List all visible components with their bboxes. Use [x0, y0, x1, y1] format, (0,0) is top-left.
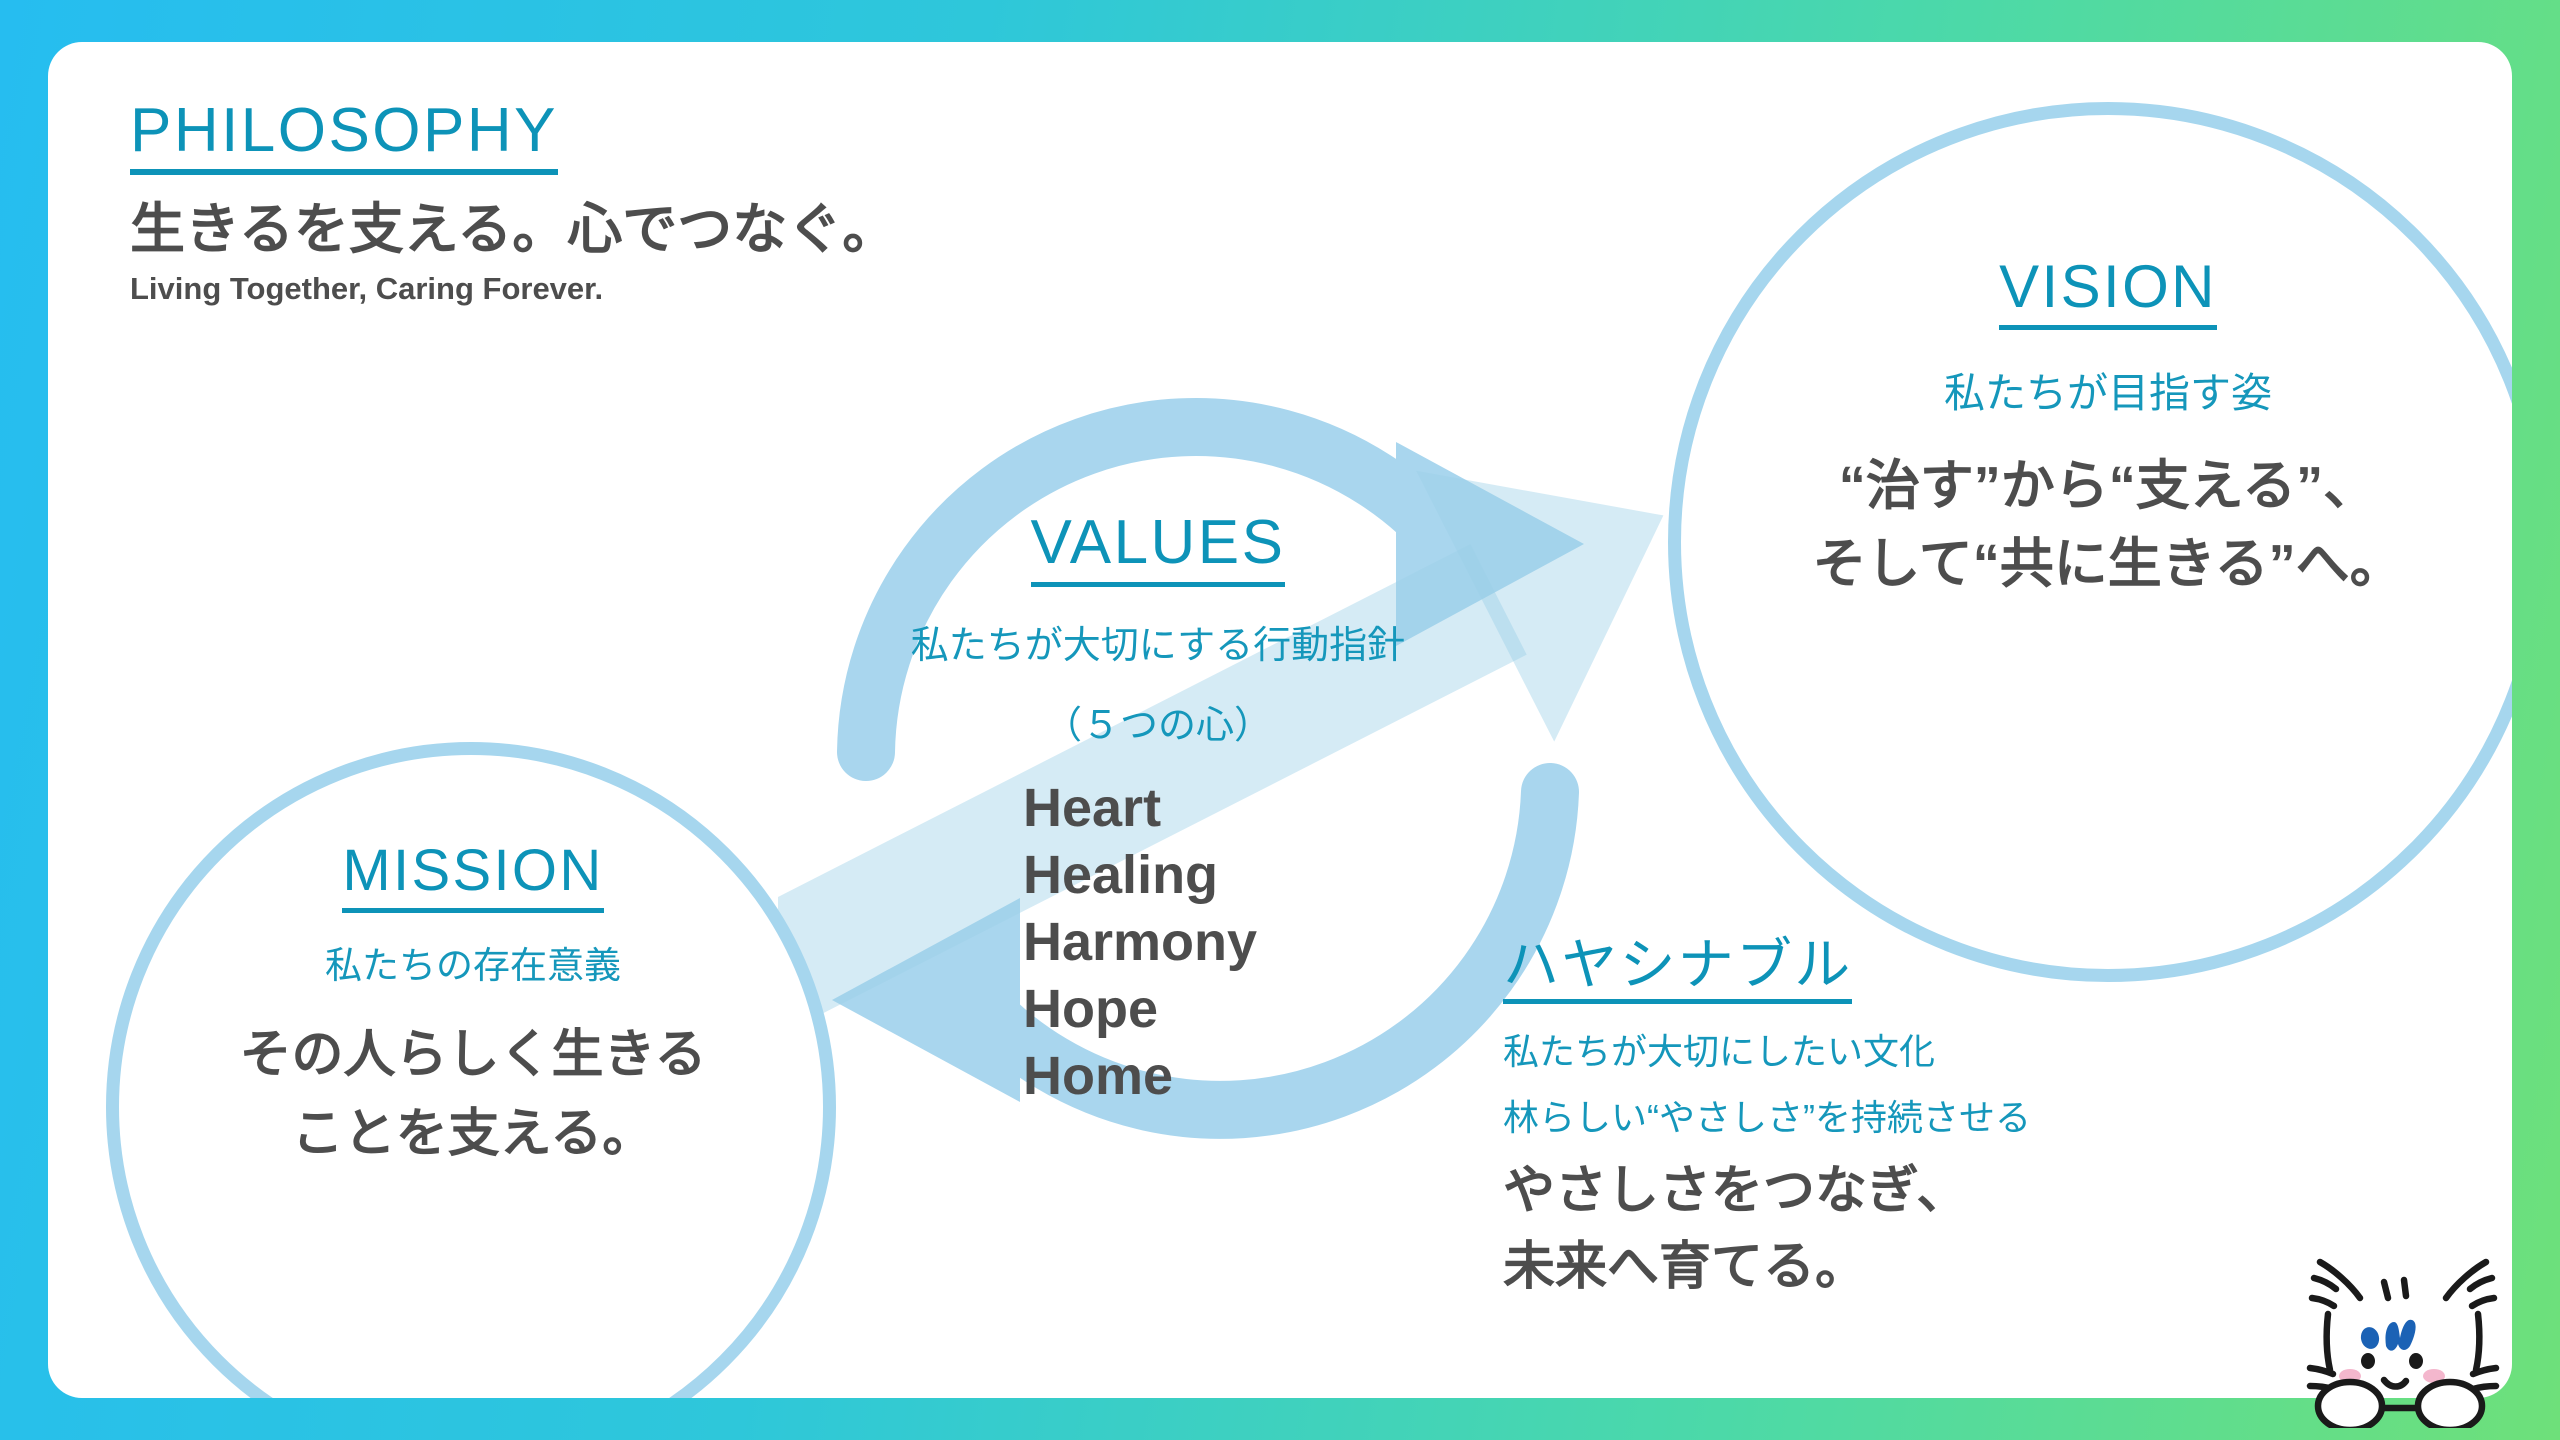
values-title: VALUES — [1031, 512, 1286, 587]
vision-line-1: “治す”から“支える”、 — [1708, 451, 2508, 522]
slide-canvas: PHILOSOPHY 生きるを支える。心でつなぐ。 Living Togethe… — [0, 0, 2560, 1440]
values-subtitle: 私たちが大切にする行動指針 — [808, 621, 1508, 672]
values-subtitle-2: （５つの心） — [808, 694, 1508, 749]
mission-line-1: その人らしく生きる — [123, 1021, 823, 1090]
vision-title: VISION — [1999, 257, 2217, 330]
philosophy-block: PHILOSOPHY 生きるを支える。心でつなぐ。 Living Togethe… — [130, 100, 897, 307]
hayashinable-subtitle-2: 林らしい“やさしさ”を持続させる — [1503, 1089, 2031, 1141]
values-block: VALUES 私たちが大切にする行動指針 （５つの心） Heart Healin… — [808, 512, 1508, 1110]
mission-block: MISSION 私たちの存在意義 その人らしく生きる ことを支える。 — [123, 842, 823, 1168]
values-item: Hope — [1023, 976, 1508, 1043]
vision-subtitle: 私たちが目指す姿 — [1708, 366, 2508, 421]
hayashinable-line-2: 未来へ育てる。 — [1503, 1233, 2031, 1302]
philosophy-headline-jp: 生きるを支える。心でつなぐ。 — [130, 197, 897, 262]
mission-line-2: ことを支える。 — [123, 1100, 823, 1169]
vision-line-2: そして“共に生きる”へ。 — [1708, 529, 2508, 600]
philosophy-title: PHILOSOPHY — [130, 100, 558, 175]
philosophy-headline-en: Living Together, Caring Forever. — [130, 270, 897, 307]
mission-subtitle: 私たちの存在意義 — [123, 941, 823, 991]
values-item: Home — [1023, 1043, 1508, 1110]
values-item: Harmony — [1023, 909, 1508, 976]
hayashinable-line-1: やさしさをつなぎ、 — [1503, 1157, 2031, 1226]
values-item: Healing — [1023, 842, 1508, 909]
vision-block: VISION 私たちが目指す姿 “治す”から“支える”、 そして“共に生きる”へ… — [1708, 257, 2508, 600]
values-list: Heart Healing Harmony Hope Home — [808, 775, 1508, 1110]
mission-title: MISSION — [342, 842, 603, 913]
hayashinable-block: ハヤシナブル 私たちが大切にしたい文化 林らしい“やさしさ”を持続させる やさし… — [1503, 937, 2031, 1302]
content-card: PHILOSOPHY 生きるを支える。心でつなぐ。 Living Togethe… — [48, 42, 2512, 1398]
cat-mascot-icon — [2288, 1228, 2518, 1428]
values-item: Heart — [1023, 775, 1508, 842]
hayashinable-title: ハヤシナブル — [1503, 937, 1852, 1004]
hayashinable-subtitle: 私たちが大切にしたい文化 — [1503, 1028, 2031, 1077]
